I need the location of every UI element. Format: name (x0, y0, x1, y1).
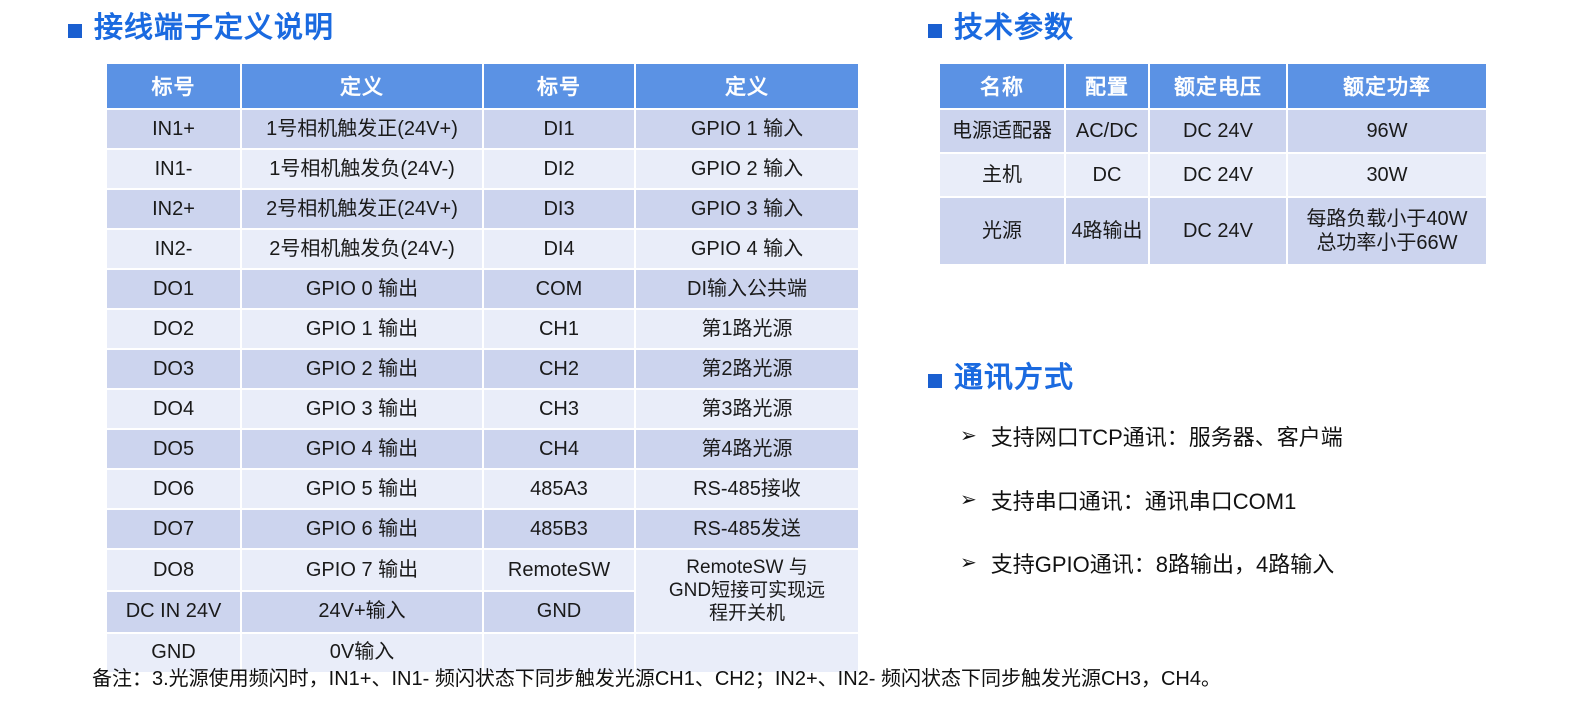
cell-mark-2: CH4 (484, 430, 634, 468)
table-row: 电源适配器 AC/DC DC 24V 96W (940, 110, 1486, 152)
cell-mark-2: COM (484, 270, 634, 308)
arrow-bullet-icon: ➢ (960, 551, 977, 576)
cell-def-2: DI输入公共端 (636, 270, 858, 308)
cell-def-2: GPIO 4 输入 (636, 230, 858, 268)
cell-def-1: GPIO 7 输出 (242, 550, 482, 590)
cell-mark-2: CH3 (484, 390, 634, 428)
table-row: IN1- 1号相机触发负(24V-) DI2 GPIO 2 输入 (107, 150, 858, 188)
table-row: 光源 4路输出 DC 24V 每路负载小于40W总功率小于66W (940, 198, 1486, 264)
column-header-def-2: 定义 (636, 64, 858, 108)
cell-mark-1: IN1+ (107, 110, 240, 148)
column-header-name: 名称 (940, 64, 1064, 108)
list-item: ➢ 支持网口TCP通讯：服务器、客户端 (960, 424, 1560, 452)
column-header-def-1: 定义 (242, 64, 482, 108)
cell-def-1: GPIO 2 输出 (242, 350, 482, 388)
arrow-bullet-icon: ➢ (960, 488, 977, 513)
cell-def-2: RS-485发送 (636, 510, 858, 548)
cell-def-1: 2号相机触发负(24V-) (242, 230, 482, 268)
cell-def-1: GPIO 1 输出 (242, 310, 482, 348)
table-row: DO8 GPIO 7 输出 RemoteSW RemoteSW 与GND短接可实… (107, 550, 858, 590)
cell-mark-1: DO1 (107, 270, 240, 308)
cell-def-1: 2号相机触发正(24V+) (242, 190, 482, 228)
square-bullet-icon (928, 374, 942, 388)
technical-parameters-table: 名称 配置 额定电压 额定功率 电源适配器 AC/DC DC 24V 96W 主… (938, 62, 1488, 266)
cell-name: 光源 (940, 198, 1064, 264)
cell-def-1: GPIO 6 输出 (242, 510, 482, 548)
table-row: DO2 GPIO 1 输出 CH1 第1路光源 (107, 310, 858, 348)
list-item: ➢ 支持GPIO通讯：8路输出，4路输入 (960, 551, 1560, 579)
section-heading-comm-label: 通讯方式 (954, 364, 1074, 393)
table-row: DO6 GPIO 5 输出 485A3 RS-485接收 (107, 470, 858, 508)
cell-remotesw-note: RemoteSW 与GND短接可实现远程开关机 (636, 550, 858, 632)
column-header-power: 额定功率 (1288, 64, 1486, 108)
square-bullet-icon (68, 24, 82, 38)
column-header-mark-2: 标号 (484, 64, 634, 108)
table-row: DO4 GPIO 3 输出 CH3 第3路光源 (107, 390, 858, 428)
cell-mark-1: DO2 (107, 310, 240, 348)
cell-def-2: GPIO 1 输入 (636, 110, 858, 148)
cell-def-2: GPIO 3 输入 (636, 190, 858, 228)
column-header-config: 配置 (1066, 64, 1148, 108)
cell-def-2: 第1路光源 (636, 310, 858, 348)
cell-mark-2: CH2 (484, 350, 634, 388)
list-item-label: 支持网口TCP通讯：服务器、客户端 (991, 424, 1343, 452)
table-row: DO7 GPIO 6 输出 485B3 RS-485发送 (107, 510, 858, 548)
cell-config: AC/DC (1066, 110, 1148, 152)
cell-mark-2: DI4 (484, 230, 634, 268)
cell-mark-1: DO6 (107, 470, 240, 508)
cell-def-2: GPIO 2 输入 (636, 150, 858, 188)
cell-voltage: DC 24V (1150, 110, 1286, 152)
section-heading-tech-label: 技术参数 (954, 14, 1074, 43)
cell-mark-1: IN1- (107, 150, 240, 188)
cell-def-1: 24V+输入 (242, 592, 482, 632)
cell-def-1: GPIO 3 输出 (242, 390, 482, 428)
cell-def-2: RS-485接收 (636, 470, 858, 508)
cell-mark-2: 485A3 (484, 470, 634, 508)
cell-mark-1: IN2- (107, 230, 240, 268)
cell-mark-2: DI3 (484, 190, 634, 228)
cell-def-1: GPIO 0 输出 (242, 270, 482, 308)
arrow-bullet-icon: ➢ (960, 424, 977, 449)
table-row: DO1 GPIO 0 输出 COM DI输入公共端 (107, 270, 858, 308)
cell-mark-2: 485B3 (484, 510, 634, 548)
cell-mark-1: DC IN 24V (107, 592, 240, 632)
cell-power: 30W (1288, 154, 1486, 196)
column-header-mark-1: 标号 (107, 64, 240, 108)
communication-list: ➢ 支持网口TCP通讯：服务器、客户端 ➢ 支持串口通讯：通讯串口COM1 ➢ … (960, 424, 1560, 615)
section-heading-wiring-label: 接线端子定义说明 (94, 14, 334, 43)
cell-power: 96W (1288, 110, 1486, 152)
column-header-voltage: 额定电压 (1150, 64, 1286, 108)
square-bullet-icon (928, 24, 942, 38)
table-header-row: 名称 配置 额定电压 额定功率 (940, 64, 1486, 108)
cell-name: 电源适配器 (940, 110, 1064, 152)
cell-mark-1: DO4 (107, 390, 240, 428)
cell-voltage: DC 24V (1150, 154, 1286, 196)
cell-mark-2: DI1 (484, 110, 634, 148)
table-row: IN2- 2号相机触发负(24V-) DI4 GPIO 4 输入 (107, 230, 858, 268)
cell-mark-1: DO5 (107, 430, 240, 468)
table-row: DO3 GPIO 2 输出 CH2 第2路光源 (107, 350, 858, 388)
cell-mark-1: IN2+ (107, 190, 240, 228)
table-row: 主机 DC DC 24V 30W (940, 154, 1486, 196)
table-row: DO5 GPIO 4 输出 CH4 第4路光源 (107, 430, 858, 468)
table-row: IN2+ 2号相机触发正(24V+) DI3 GPIO 3 输入 (107, 190, 858, 228)
cell-def-1: 1号相机触发负(24V-) (242, 150, 482, 188)
list-item-label: 支持串口通讯：通讯串口COM1 (991, 488, 1297, 516)
table-row: IN1+ 1号相机触发正(24V+) DI1 GPIO 1 输入 (107, 110, 858, 148)
cell-config: DC (1066, 154, 1148, 196)
cell-name: 主机 (940, 154, 1064, 196)
cell-def-2: 第2路光源 (636, 350, 858, 388)
cell-voltage: DC 24V (1150, 198, 1286, 264)
cell-mark-1: DO7 (107, 510, 240, 548)
table-header-row: 标号 定义 标号 定义 (107, 64, 858, 108)
cell-config: 4路输出 (1066, 198, 1148, 264)
cell-mark-2: RemoteSW (484, 550, 634, 590)
cell-def-1: 1号相机触发正(24V+) (242, 110, 482, 148)
section-heading-tech: 技术参数 (928, 14, 1074, 43)
list-item-label: 支持GPIO通讯：8路输出，4路输入 (991, 551, 1334, 579)
cell-def-2: 第3路光源 (636, 390, 858, 428)
cell-def-1: GPIO 5 输出 (242, 470, 482, 508)
cell-mark-2: CH1 (484, 310, 634, 348)
list-item: ➢ 支持串口通讯：通讯串口COM1 (960, 488, 1560, 516)
cell-mark-2: GND (484, 592, 634, 632)
cell-power: 每路负载小于40W总功率小于66W (1288, 198, 1486, 264)
cell-mark-1: DO3 (107, 350, 240, 388)
cell-def-2: 第4路光源 (636, 430, 858, 468)
cell-def-1: GPIO 4 输出 (242, 430, 482, 468)
section-heading-wiring: 接线端子定义说明 (68, 14, 334, 43)
wiring-terminal-table: 标号 定义 标号 定义 IN1+ 1号相机触发正(24V+) DI1 GPIO … (105, 62, 860, 674)
cell-mark-2: DI2 (484, 150, 634, 188)
footnote-text: 备注：3.光源使用频闪时，IN1+、IN1- 频闪状态下同步触发光源CH1、CH… (92, 662, 1221, 691)
slide-page: 接线端子定义说明 标号 定义 标号 定义 IN1+ 1号相机触发正(24V+) … (0, 0, 1587, 714)
cell-mark-1: DO8 (107, 550, 240, 590)
section-heading-comm: 通讯方式 (928, 364, 1074, 393)
